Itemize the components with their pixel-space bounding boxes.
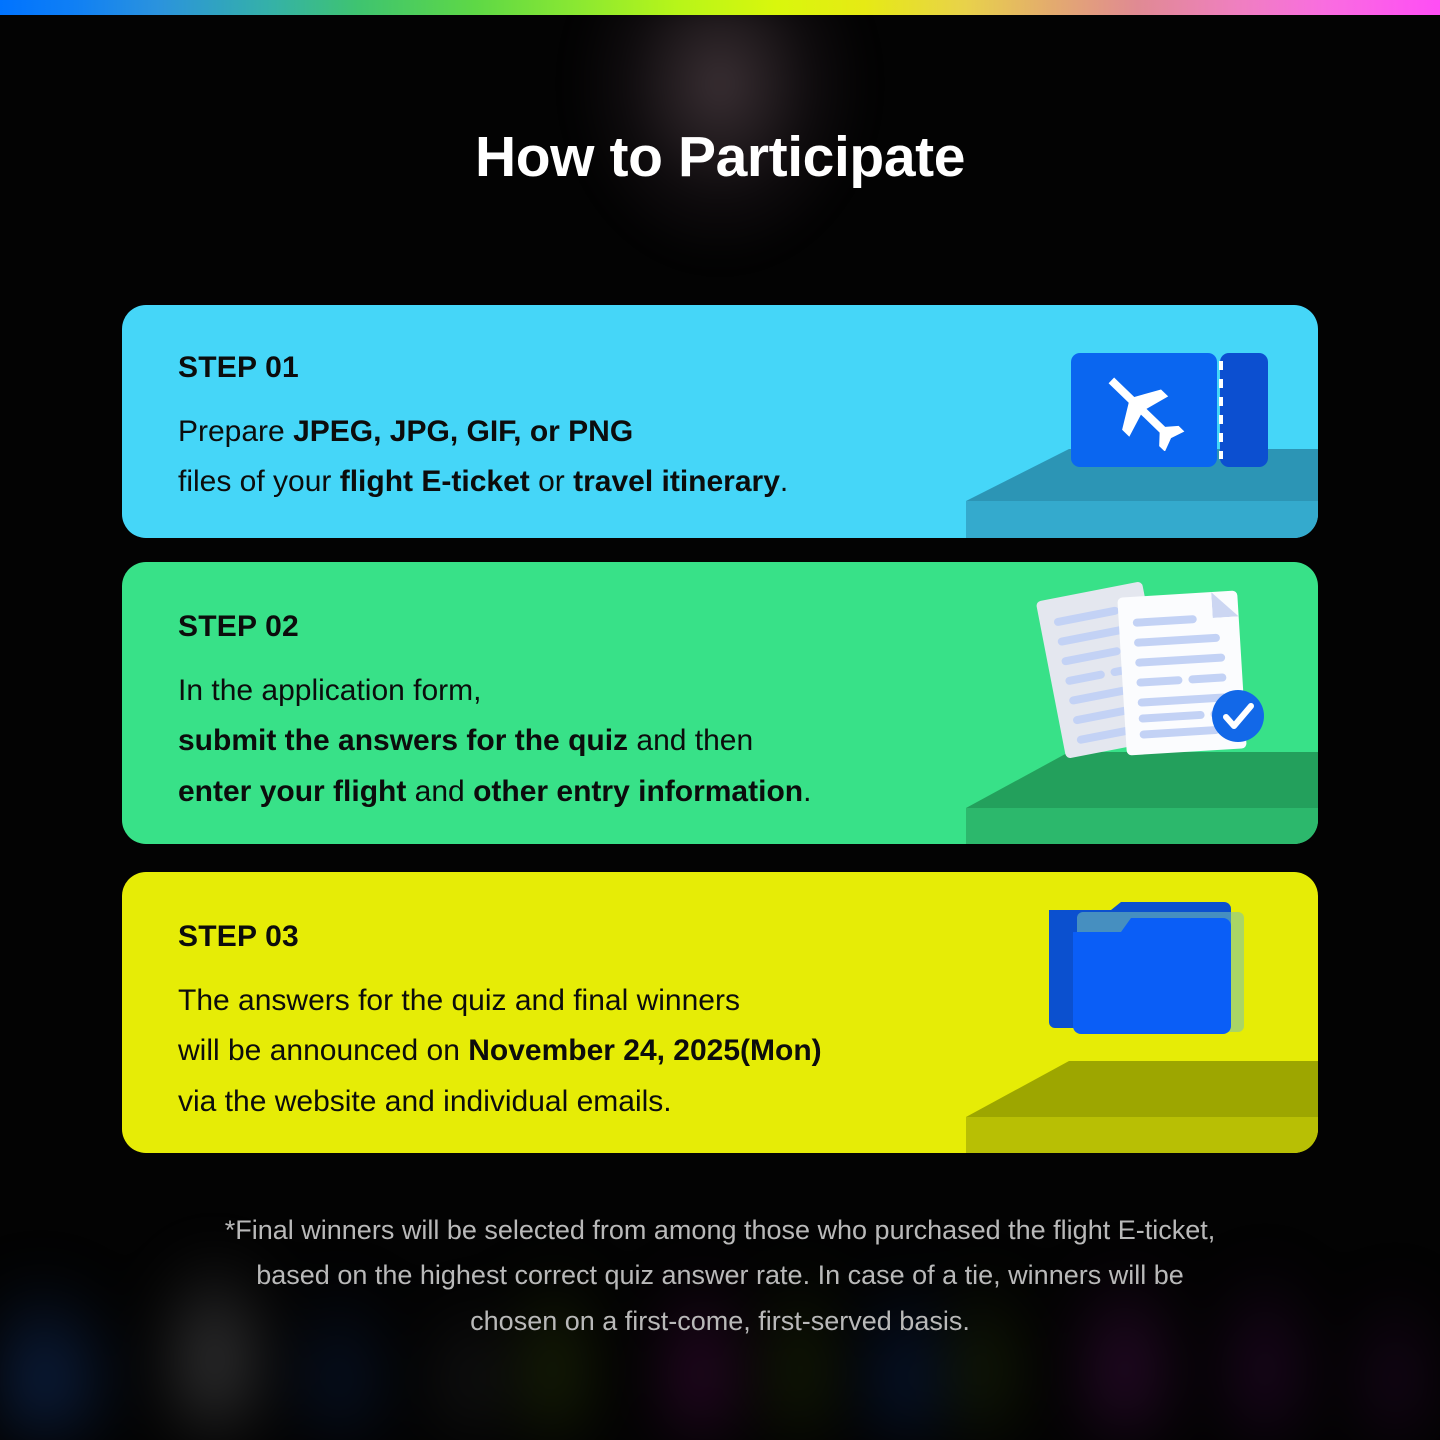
- step-body-01-line-2: files of your flight E-ticket or travel …: [178, 457, 788, 507]
- step-body-03: The answers for the quiz and final winne…: [178, 976, 822, 1127]
- page-content: How to Participate STEP 01 Prepare JPEG: [0, 0, 1440, 1440]
- footnote: *Final winners will be selected from amo…: [90, 1208, 1350, 1344]
- step-card-02: STEP 02 In the application form, submit …: [122, 562, 1318, 844]
- step-body-03-line-3: via the website and individual emails.: [178, 1077, 822, 1127]
- step-body-02: In the application form, submit the answ…: [178, 666, 811, 817]
- footnote-line-2: based on the highest correct quiz answer…: [90, 1253, 1350, 1298]
- step-platform-03: [966, 1061, 1318, 1153]
- ticket-perforation-line: [1219, 361, 1223, 459]
- step-card-03-text: STEP 03 The answers for the quiz and fin…: [178, 920, 822, 1127]
- step-card-02-text: STEP 02 In the application form, submit …: [178, 610, 811, 817]
- step-body-03-line-1: The answers for the quiz and final winne…: [178, 976, 822, 1026]
- step-body-02-line-2: submit the answers for the quiz and then: [178, 716, 811, 766]
- step-platform-02: [966, 752, 1318, 844]
- document-folded-corner: [1211, 590, 1239, 618]
- folder-icon: [1049, 902, 1244, 1034]
- flight-ticket-icon: [1071, 353, 1268, 467]
- step-card-01-text: STEP 01 Prepare JPEG, JPG, GIF, or PNG f…: [178, 351, 788, 508]
- footnote-line-1: *Final winners will be selected from amo…: [90, 1208, 1350, 1253]
- step-label-03: STEP 03: [178, 920, 822, 954]
- platform-front-face: [966, 1117, 1318, 1153]
- platform-front-face: [966, 808, 1318, 844]
- step-card-01: STEP 01 Prepare JPEG, JPG, GIF, or PNG f…: [122, 305, 1318, 538]
- documents-check-icon: [1050, 580, 1260, 760]
- step-label-01: STEP 01: [178, 351, 788, 385]
- check-badge-icon: [1212, 690, 1264, 742]
- checkmark-icon: [1212, 690, 1264, 742]
- step-body-01: Prepare JPEG, JPG, GIF, or PNG files of …: [178, 407, 788, 508]
- step-body-01-line-1: Prepare JPEG, JPG, GIF, or PNG: [178, 407, 788, 457]
- step-card-03: STEP 03 The answers for the quiz and fin…: [122, 872, 1318, 1153]
- folder-front-panel: [1073, 918, 1231, 1034]
- ticket-stub-panel: [1220, 353, 1268, 467]
- airplane-icon: [1091, 371, 1195, 451]
- footnote-line-3: chosen on a first-come, first-served bas…: [90, 1299, 1350, 1344]
- page-title: How to Participate: [0, 124, 1440, 190]
- step-body-03-line-2: will be announced on November 24, 2025(M…: [178, 1026, 822, 1076]
- step-label-02: STEP 02: [178, 610, 811, 644]
- step-body-02-line-3: enter your flight and other entry inform…: [178, 767, 811, 817]
- platform-front-face: [966, 501, 1318, 538]
- step-body-02-line-1: In the application form,: [178, 666, 811, 716]
